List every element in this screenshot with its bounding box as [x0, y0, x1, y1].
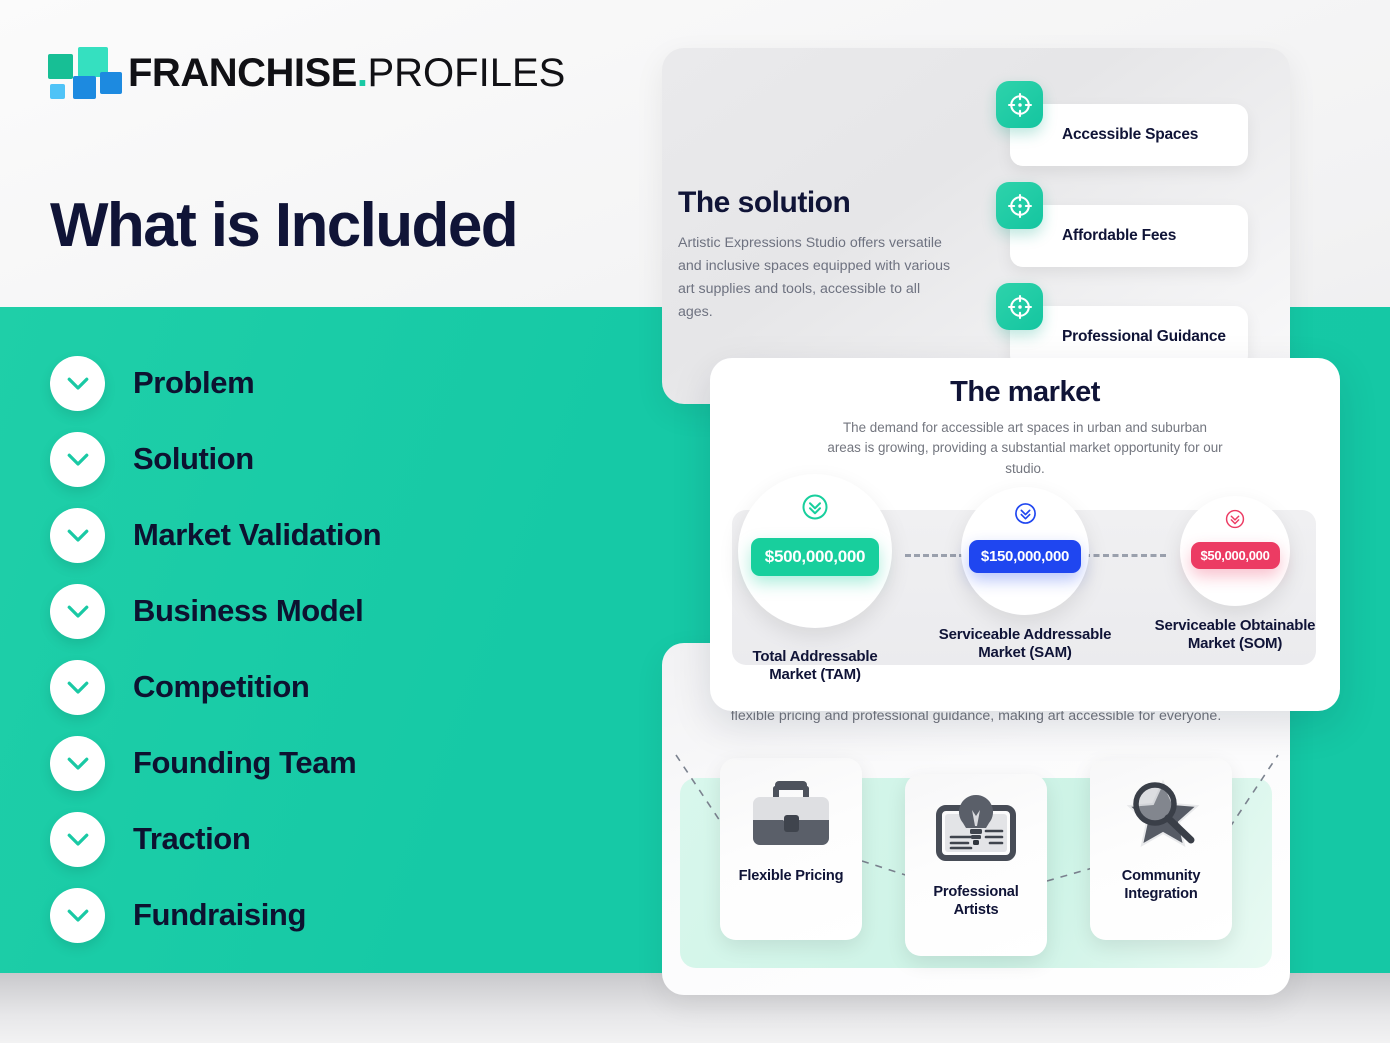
list-item[interactable]: Problem — [50, 345, 381, 421]
market-value-badge: $500,000,000 — [751, 538, 879, 576]
market-caption: Serviceable Addressable Market (SAM) — [938, 626, 1113, 663]
page-title: What is Included — [50, 190, 517, 261]
list-item-label: Business Model — [133, 593, 363, 629]
solution-feature-card[interactable]: Accessible Spaces — [1010, 104, 1248, 166]
chevron-down-icon — [50, 584, 105, 639]
brand-logo[interactable]: FRANCHISE.PROFILES — [48, 47, 565, 99]
chevron-down-icon — [50, 812, 105, 867]
list-item-label: Competition — [133, 669, 309, 705]
solution-description: Artistic Expressions Studio offers versa… — [678, 232, 953, 324]
benefit-label: Flexible Pricing — [731, 867, 852, 903]
chevron-down-icon — [50, 660, 105, 715]
market-value-badge: $150,000,000 — [969, 540, 1081, 573]
logo-word-secondary: PROFILES — [367, 51, 565, 95]
solution-feature-card[interactable]: Affordable Fees — [1010, 205, 1248, 267]
double-chevron-down-icon — [800, 492, 830, 527]
list-item-label: Problem — [133, 365, 254, 401]
benefit-card[interactable]: Flexible Pricing — [720, 758, 862, 940]
list-item[interactable]: Traction — [50, 801, 381, 877]
benefit-label: Professional Artists — [905, 883, 1047, 937]
list-item-label: Market Validation — [133, 517, 381, 553]
lightbulb-card-icon — [930, 790, 1022, 875]
slide-canvas: FRANCHISE.PROFILES What is Included Prob… — [0, 0, 1390, 1043]
market-circle[interactable]: $150,000,000 — [961, 487, 1089, 615]
list-item[interactable]: Competition — [50, 649, 381, 725]
list-item-label: Founding Team — [133, 745, 356, 781]
list-item-label: Traction — [133, 821, 250, 857]
list-item-label: Fundraising — [133, 897, 306, 933]
market-description: The demand for accessible art spaces in … — [825, 418, 1225, 479]
briefcase-icon — [745, 774, 837, 859]
list-item-label: Solution — [133, 441, 254, 477]
logo-dot: . — [357, 51, 368, 95]
contents-list: Problem Solution Market Validation Busin… — [50, 345, 381, 953]
benefit-label: Community Integration — [1090, 867, 1232, 921]
list-item[interactable]: Fundraising — [50, 877, 381, 953]
chevron-down-icon — [50, 888, 105, 943]
list-item[interactable]: Business Model — [50, 573, 381, 649]
chevron-down-icon — [50, 736, 105, 791]
market-segments: $500,000,000 Total Addressable Market (T… — [710, 474, 1340, 685]
market-title: The market — [710, 376, 1340, 409]
crosshair-icon — [996, 182, 1043, 229]
feature-label: Affordable Fees — [1062, 227, 1176, 245]
benefit-card[interactable]: Community Integration — [1090, 758, 1232, 940]
list-item[interactable]: Founding Team — [50, 725, 381, 801]
market-circle[interactable]: $50,000,000 — [1180, 496, 1290, 606]
chevron-down-icon — [50, 356, 105, 411]
market-caption: Total Addressable Market (TAM) — [728, 648, 903, 685]
market-segment-sam: $150,000,000 Serviceable Addressable Mar… — [920, 474, 1130, 685]
star-magnifier-icon — [1115, 774, 1207, 859]
feature-label: Professional Guidance — [1062, 328, 1226, 346]
logo-wordmark: FRANCHISE.PROFILES — [128, 51, 565, 96]
solution-heading: The solution — [678, 186, 850, 220]
benefit-card[interactable]: Professional Artists — [905, 774, 1047, 956]
double-chevron-down-icon — [1224, 508, 1246, 535]
market-segment-som: $50,000,000 Serviceable Obtainable Marke… — [1130, 474, 1340, 685]
market-segment-tam: $500,000,000 Total Addressable Market (T… — [710, 474, 920, 685]
chevron-down-icon — [50, 432, 105, 487]
market-caption: Serviceable Obtainable Market (SOM) — [1148, 617, 1323, 654]
list-item[interactable]: Solution — [50, 421, 381, 497]
list-item[interactable]: Market Validation — [50, 497, 381, 573]
logo-word-primary: FRANCHISE — [128, 51, 357, 95]
logo-squares-icon — [48, 47, 108, 99]
market-circle[interactable]: $500,000,000 — [738, 474, 892, 628]
crosshair-icon — [996, 283, 1043, 330]
crosshair-icon — [996, 81, 1043, 128]
chevron-down-icon — [50, 508, 105, 563]
double-chevron-down-icon — [1013, 501, 1038, 531]
market-value-badge: $50,000,000 — [1191, 542, 1280, 569]
feature-label: Accessible Spaces — [1062, 126, 1198, 144]
